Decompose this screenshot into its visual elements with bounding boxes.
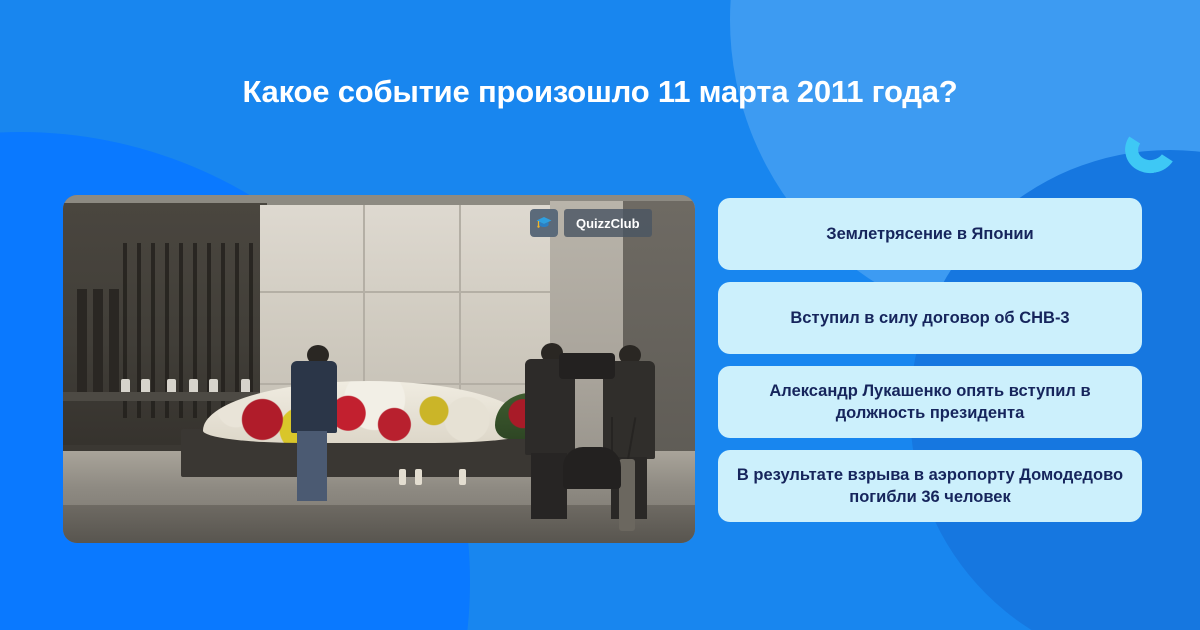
answer-options-list: Землетрясение в Японии Вступил в силу до… (718, 198, 1142, 522)
watermark-badge: QuizzClub (530, 209, 652, 237)
answer-option-4[interactable]: В результате взрыва в аэропорту Домодедо… (718, 450, 1142, 522)
camera-icon (559, 353, 615, 379)
quiz-card: Какое событие произошло 11 марта 2011 го… (0, 0, 1200, 630)
question-image (63, 195, 695, 543)
answer-option-3[interactable]: Александр Лукашенко опять вступил в долж… (718, 366, 1142, 438)
watermark-label: QuizzClub (564, 209, 652, 237)
graduation-cap-icon (530, 209, 558, 237)
answer-option-1[interactable]: Землетрясение в Японии (718, 198, 1142, 270)
photo-ground-shadow (63, 505, 695, 543)
page-title: Какое событие произошло 11 марта 2011 го… (0, 74, 1200, 110)
photo-bollard (619, 459, 635, 531)
answer-option-2[interactable]: Вступил в силу договор об СНВ-3 (718, 282, 1142, 354)
